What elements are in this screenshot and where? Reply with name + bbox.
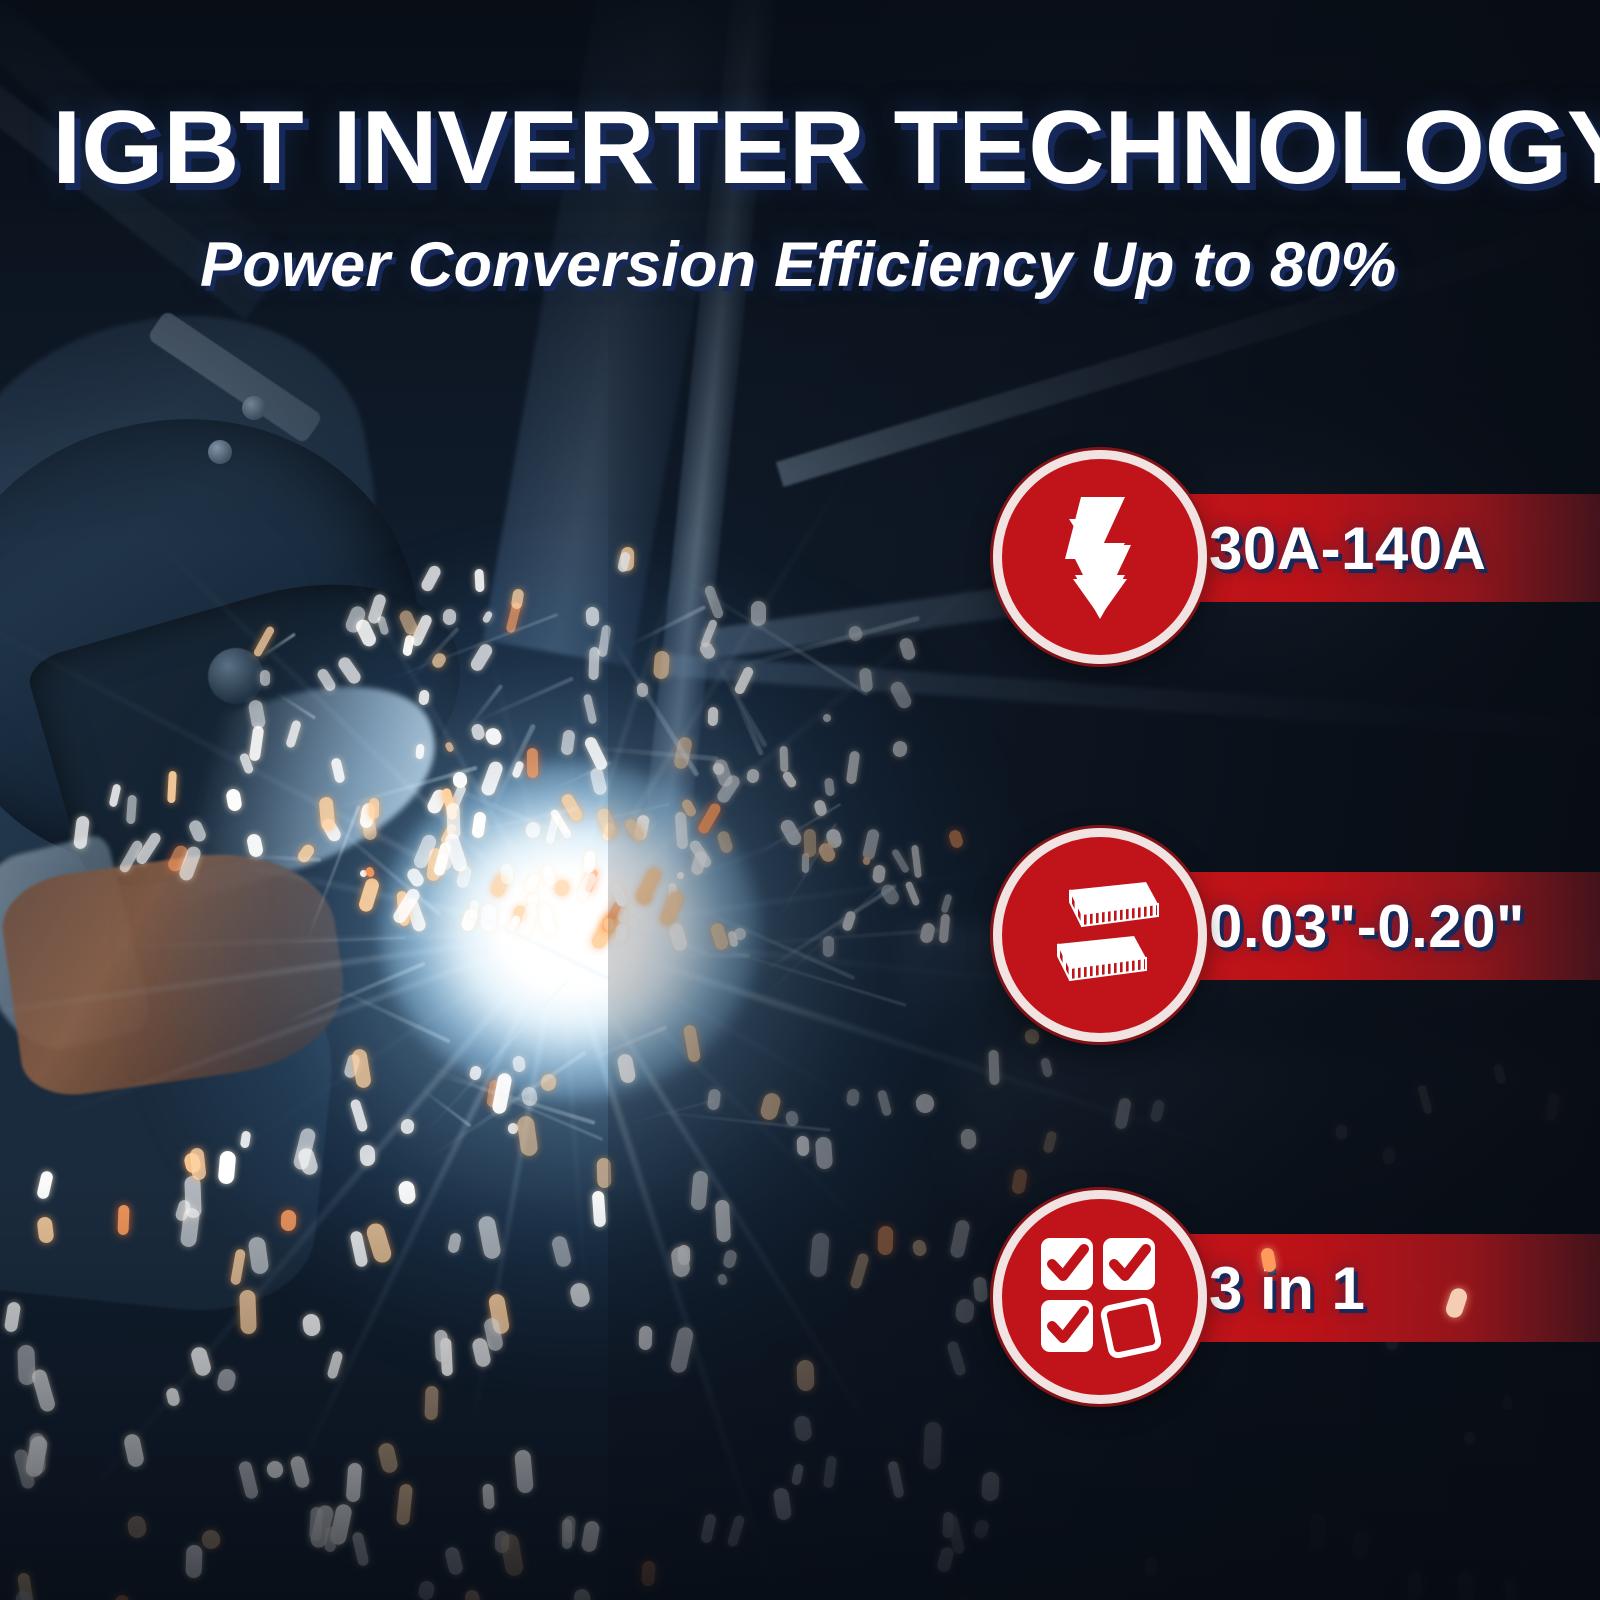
- spark: [369, 798, 379, 819]
- feature-label-amperage-range: 30A-140A: [1209, 514, 1487, 583]
- spark: [527, 748, 539, 778]
- spark: [474, 569, 484, 592]
- spark: [359, 1145, 375, 1167]
- spark: [167, 771, 177, 803]
- lightning-bolt-arrow-icon: [1045, 493, 1155, 621]
- promo-banner: IGBT INVERTER TECHNOLOGY Power Conversio…: [0, 0, 1600, 1600]
- page-subtitle: Power Conversion Efficiency Up to 80%: [200, 232, 1600, 298]
- helmet-adjust-knob: [208, 648, 264, 704]
- feature-label-material-thickness: 0.03"-0.20": [1209, 892, 1525, 961]
- stacked-plates-icon: [1036, 876, 1164, 994]
- feature-icon-circle: [993, 828, 1207, 1042]
- checkbox-grid-icon: [1039, 1236, 1161, 1358]
- spark: [260, 670, 270, 686]
- feature-label-multi-process: 3 in 1: [1209, 1254, 1365, 1323]
- page-title: IGBT INVERTER TECHNOLOGY: [52, 96, 1600, 200]
- feature-icon-circle: [993, 1190, 1207, 1404]
- spark: [500, 864, 513, 885]
- feature-icon-circle: [993, 450, 1207, 664]
- spark: [586, 607, 600, 627]
